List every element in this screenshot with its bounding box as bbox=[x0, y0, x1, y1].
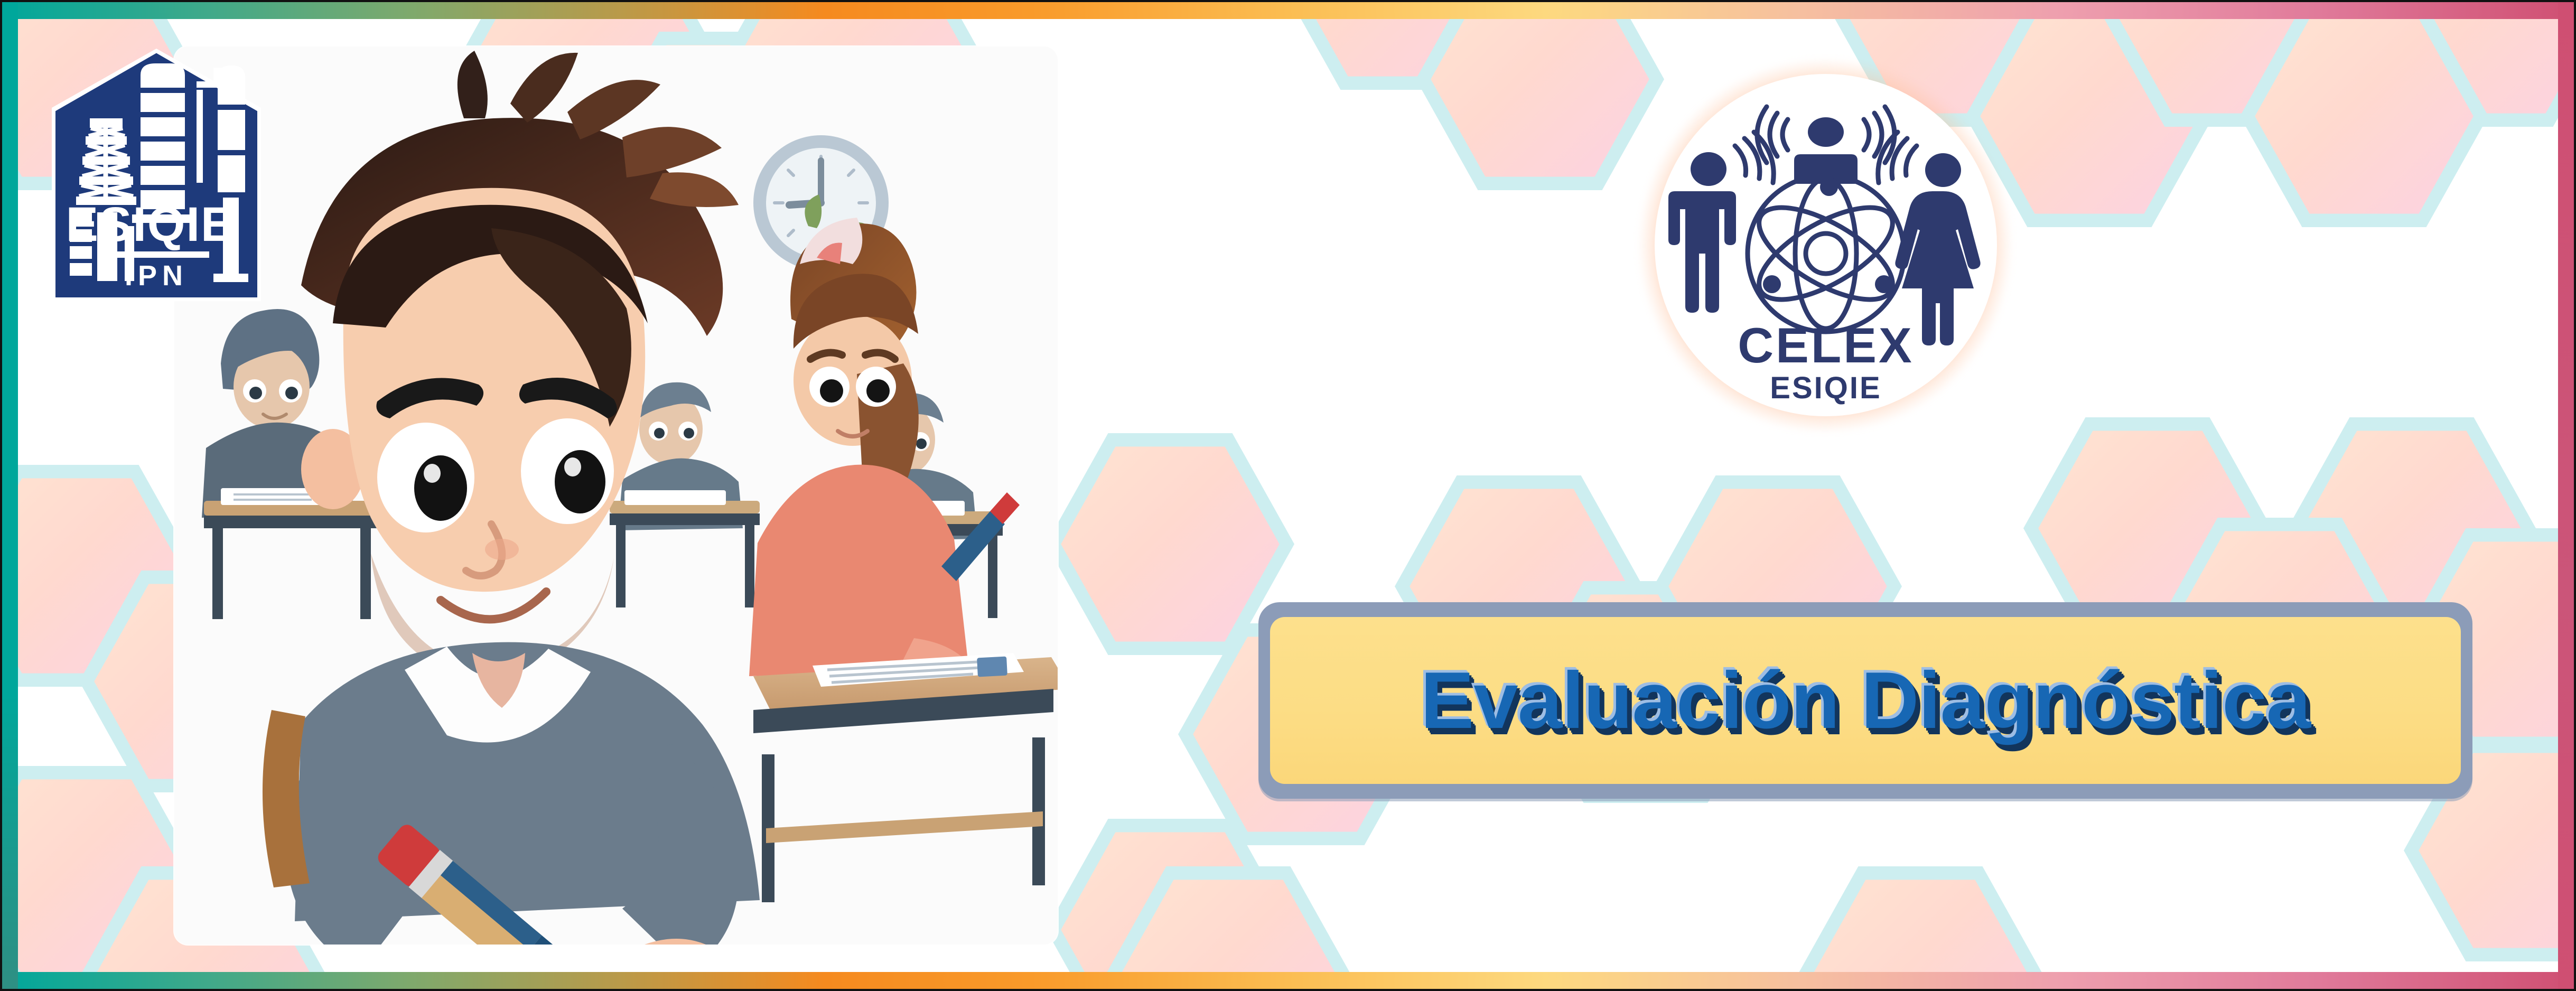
frame-edge-bottom bbox=[0, 972, 2576, 991]
title-plaque: Evaluación Diagnóstica bbox=[1258, 602, 2472, 799]
esiqie-ipn-crest: ESIQIE IPN bbox=[45, 44, 267, 308]
frame-edge-left bbox=[0, 0, 18, 991]
female-figure-icon bbox=[1895, 153, 1980, 345]
atom-icon bbox=[1746, 175, 1906, 332]
frame-edge-top bbox=[0, 0, 2576, 19]
evaluacion-diagnostica-banner: ESIQIE IPN bbox=[0, 0, 2576, 991]
classroom-illustration-art bbox=[174, 46, 1058, 945]
celex-wordmark: CELEX bbox=[1738, 317, 1914, 373]
esiqie-sub-wordmark: ESIQIE bbox=[1770, 371, 1881, 405]
ipn-wordmark: IPN bbox=[125, 260, 188, 292]
celex-esiqie-logo: CELEX ESIQIE bbox=[1622, 37, 2029, 460]
esiqie-wordmark: ESIQIE bbox=[66, 198, 235, 251]
esiqie-ipn-crest-art: ESIQIE IPN bbox=[45, 44, 267, 308]
classroom-exam-illustration bbox=[174, 46, 1058, 945]
celex-logo-art: CELEX ESIQIE bbox=[1655, 74, 1997, 416]
svg-text:ESIQIE: ESIQIE bbox=[66, 198, 235, 251]
page-title: Evaluación Diagnóstica bbox=[1421, 655, 2310, 747]
male-figure-icon bbox=[1668, 152, 1736, 313]
frame-edge-right bbox=[2558, 0, 2576, 991]
title-plaque-inner: Evaluación Diagnóstica bbox=[1270, 617, 2461, 784]
